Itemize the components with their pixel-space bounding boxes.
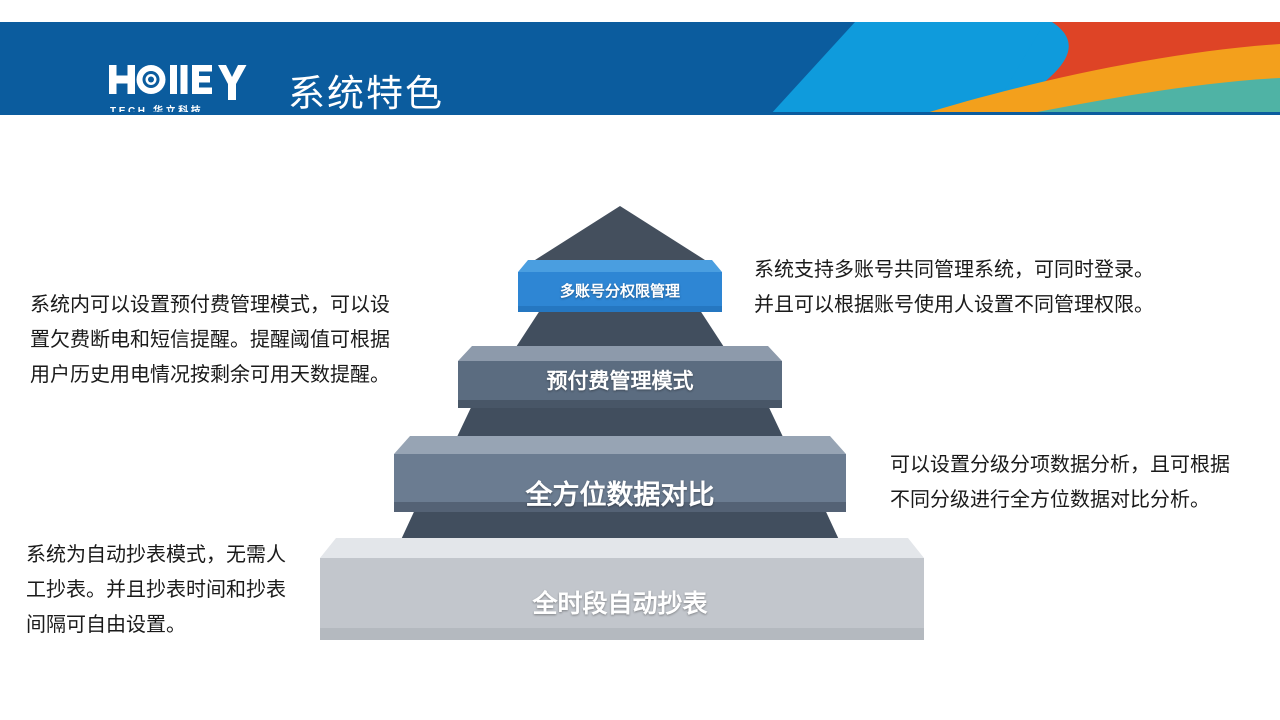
- slide-header: TECH 华立科技 系统特色: [0, 22, 1280, 115]
- page-title: 系统特色: [288, 70, 444, 115]
- pyramid-tier-1: [518, 260, 722, 312]
- tier-4-shadow-edge: [320, 628, 924, 640]
- pyramid-tier-3: [394, 436, 846, 512]
- tier-4-front-face: [320, 558, 924, 640]
- holley-logo: TECH 华立科技: [108, 60, 258, 115]
- tier-3-shadow-edge: [394, 502, 846, 512]
- tier-2-shadow-edge: [458, 400, 782, 408]
- pyramid-tier-4: [320, 538, 924, 640]
- callout-data-comparison: 可以设置分级分项数据分析，且可根据 不同分级进行全方位数据对比分析。: [890, 448, 1280, 518]
- tier-3-top-face: [394, 436, 846, 454]
- tier-4-top-face: [320, 538, 924, 558]
- header-swoosh-decoration: [760, 22, 1280, 115]
- holley-wordmark-icon: [108, 60, 258, 102]
- callout-auto-meter-reading: 系统为自动抄表模式，无需人 工抄表。并且抄表时间和抄表 间隔可自由设置。: [26, 538, 326, 643]
- pyramid-tier-2: [458, 346, 782, 408]
- callout-prepaid-mode: 系统内可以设置预付费管理模式，可以设 置欠费断电和短信提醒。提醒阈值可根据 用户…: [30, 288, 430, 393]
- tier-1-top-face: [518, 260, 722, 272]
- tier-1-shadow-edge: [518, 306, 722, 312]
- header-underline: [0, 112, 1280, 115]
- callout-multi-account: 系统支持多账号共同管理系统，可同时登录。 并且可以根据账号使用人设置不同管理权限…: [754, 253, 1194, 323]
- slide-root: TECH 华立科技 系统特色: [0, 0, 1280, 720]
- tier-2-top-face: [458, 346, 782, 361]
